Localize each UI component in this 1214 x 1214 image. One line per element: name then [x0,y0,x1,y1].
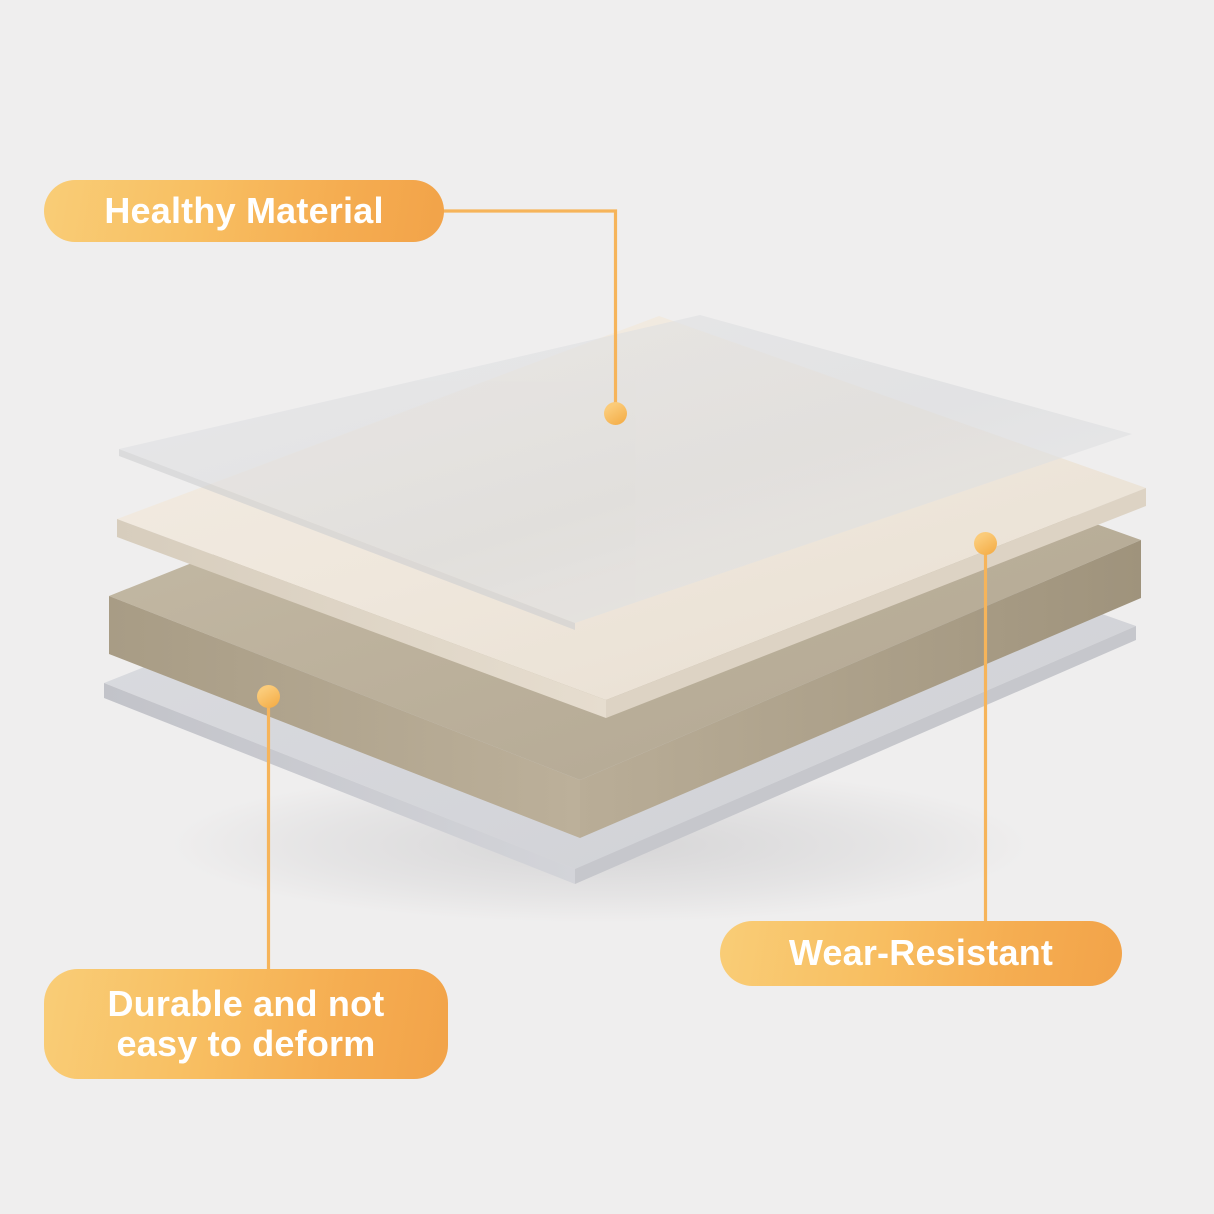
infographic-canvas: Healthy Material Wear-Resistant Durable … [0,0,1214,1214]
marker-dot-durable[interactable] [257,685,280,708]
callout-pill-wear-resistant[interactable]: Wear-Resistant [720,921,1122,986]
callout-pill-durable[interactable]: Durable and not easy to deform [44,969,448,1079]
callout-label-durable-line-1: Durable and not [107,984,384,1024]
callout-pill-healthy-material[interactable]: Healthy Material [44,180,444,242]
callout-label-wear-resistant: Wear-Resistant [789,933,1053,973]
callout-label-healthy-material: Healthy Material [104,191,383,231]
callout-label-durable-line-2: easy to deform [117,1024,376,1064]
marker-dot-healthy-material[interactable] [604,402,627,425]
marker-dot-wear-resistant[interactable] [974,532,997,555]
